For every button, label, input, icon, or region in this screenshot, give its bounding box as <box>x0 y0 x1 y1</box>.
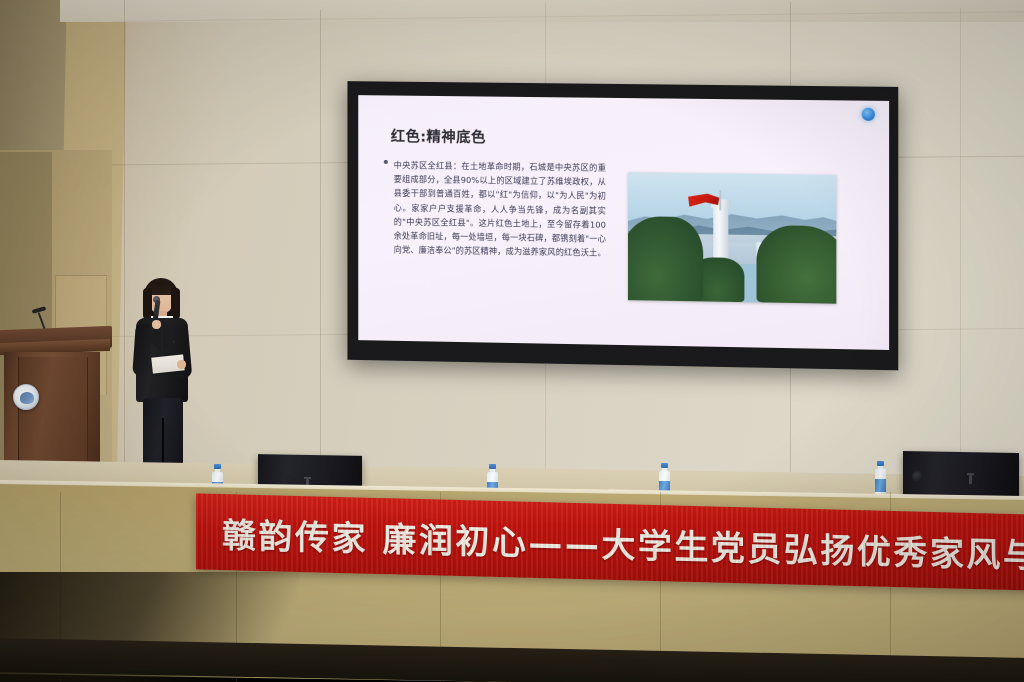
presenter-hand-holding-paper <box>177 360 186 369</box>
bottle-label <box>875 479 886 492</box>
slide-logo-icon <box>862 108 875 121</box>
slide-surface: 红色:精神底色 中央苏区全红县：在土地革命时期，石城是中央苏区的重要组成部分，全… <box>358 95 889 350</box>
wooden-podium <box>0 328 112 480</box>
wall-seam-vertical-2 <box>320 10 321 472</box>
speaker-handle-port-icon <box>912 471 923 482</box>
wall-seam-vertical-5 <box>960 8 961 474</box>
ceiling-strip <box>60 0 1024 22</box>
slide-title: 红色:精神底色 <box>391 125 486 147</box>
bottle-cap <box>214 464 221 469</box>
speaker-logo-icon-right <box>969 475 972 484</box>
auditorium-scene-photo: 红色:精神底色 中央苏区全红县：在土地革命时期，石城是中央苏区的重要组成部分，全… <box>0 0 1024 682</box>
presenter-person <box>124 278 200 484</box>
photo-trees-left <box>628 216 703 302</box>
slide-body-text: 中央苏区全红县：在土地革命时期，石城是中央苏区的重要组成部分，全县90%以上的区… <box>394 158 606 260</box>
bottle-cap <box>489 464 496 469</box>
photo-trees-right <box>757 225 837 303</box>
bottle-cap <box>661 463 668 468</box>
presenter-hand-holding-mic <box>152 320 161 329</box>
projection-screen[interactable]: 红色:精神底色 中央苏区全红县：在土地革命时期，石城是中央苏区的重要组成部分，全… <box>347 81 898 370</box>
photo-flag-pole <box>719 190 721 211</box>
slide-photo-monument <box>628 172 836 304</box>
banner-text: 赣韵传家 廉润初心——大学生党员弘扬优秀家风与廉洁素养提升行 <box>222 508 1024 584</box>
slide-bullet-icon <box>384 160 388 164</box>
bottle-cap <box>877 461 884 466</box>
university-seal-emblem-icon <box>13 384 39 410</box>
